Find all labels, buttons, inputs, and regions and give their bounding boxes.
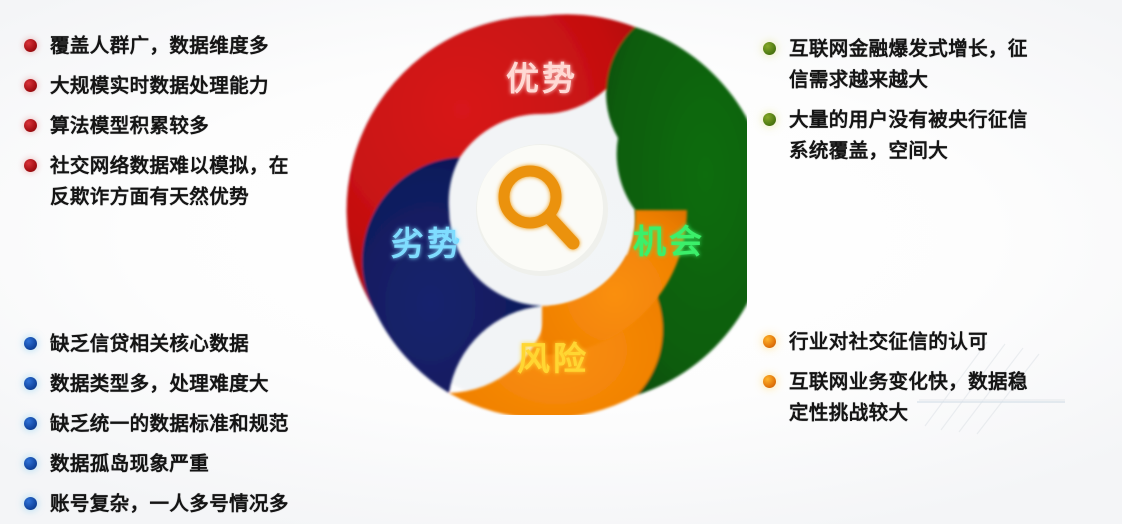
bullet-dot-icon xyxy=(24,159,37,172)
bullet-dot-icon xyxy=(763,375,776,388)
panel-opportunities: 互联网金融爆发式增长，征 信需求越来越大 大量的用户没有被央行征信 系统覆盖，空… xyxy=(763,33,1093,175)
bullet-dot-icon xyxy=(763,113,776,126)
panel-strengths: 覆盖人群广，数据维度多 大规模实时数据处理能力 算法模型积累较多 社交网络数据难… xyxy=(24,30,344,221)
wheel-label-opportunities: 机会 xyxy=(633,222,705,261)
list-item-label: 数据类型多，处理难度大 xyxy=(50,368,269,399)
swot-wheel: 优势 机会 劣势 风险 xyxy=(337,5,747,415)
list-item-label: 大量的用户没有被央行征信 系统覆盖，空间大 xyxy=(789,104,1028,166)
list-item-label: 算法模型积累较多 xyxy=(50,110,209,141)
list-item-label: 互联网金融爆发式增长，征 信需求越来越大 xyxy=(789,33,1028,95)
wheel-label-strengths: 优势 xyxy=(506,59,578,98)
wheel-label-weaknesses: 劣势 xyxy=(391,224,463,263)
bullet-dot-icon xyxy=(24,417,37,430)
bullet-dot-icon xyxy=(24,119,37,132)
list-item: 数据类型多，处理难度大 xyxy=(24,368,344,399)
bullet-dot-icon xyxy=(24,79,37,92)
bullet-dot-icon xyxy=(24,497,37,510)
panel-weaknesses: 缺乏信贷相关核心数据 数据类型多，处理难度大 缺乏统一的数据标准和规范 数据孤岛… xyxy=(24,328,344,528)
list-item-label: 缺乏统一的数据标准和规范 xyxy=(50,408,289,439)
list-item: 行业对社交征信的认可 xyxy=(763,326,1093,357)
wheel-center-disc xyxy=(477,145,603,271)
list-item: 社交网络数据难以模拟，在 反欺诈方面有天然优势 xyxy=(24,150,344,212)
list-item: 覆盖人群广，数据维度多 xyxy=(24,30,344,61)
list-item: 大量的用户没有被央行征信 系统覆盖，空间大 xyxy=(763,104,1093,166)
list-item-label: 数据孤岛现象严重 xyxy=(50,448,209,479)
list-item-label: 大规模实时数据处理能力 xyxy=(50,70,269,101)
wheel-label-threats: 风险 xyxy=(517,339,589,378)
list-item: 账号复杂，一人多号情况多 xyxy=(24,488,344,519)
list-item-label: 缺乏信贷相关核心数据 xyxy=(50,328,249,359)
list-item: 大规模实时数据处理能力 xyxy=(24,70,344,101)
bullet-dot-icon xyxy=(763,335,776,348)
bullet-dot-icon xyxy=(763,42,776,55)
bullet-dot-icon xyxy=(24,39,37,52)
bullet-dot-icon xyxy=(24,457,37,470)
list-item-label: 行业对社交征信的认可 xyxy=(789,326,988,357)
list-item: 算法模型积累较多 xyxy=(24,110,344,141)
list-item: 互联网金融爆发式增长，征 信需求越来越大 xyxy=(763,33,1093,95)
list-item-label: 账号复杂，一人多号情况多 xyxy=(50,488,289,519)
list-item: 互联网业务变化快，数据稳 定性挑战较大 xyxy=(763,366,1093,428)
panel-threats: 行业对社交征信的认可 互联网业务变化快，数据稳 定性挑战较大 xyxy=(763,326,1093,437)
list-item: 缺乏统一的数据标准和规范 xyxy=(24,408,344,439)
list-item: 数据孤岛现象严重 xyxy=(24,448,344,479)
list-item-label: 社交网络数据难以模拟，在 反欺诈方面有天然优势 xyxy=(50,150,289,212)
bullet-dot-icon xyxy=(24,337,37,350)
bullet-dot-icon xyxy=(24,377,37,390)
list-item-label: 覆盖人群广，数据维度多 xyxy=(50,30,269,61)
swot-diagram-stage: 覆盖人群广，数据维度多 大规模实时数据处理能力 算法模型积累较多 社交网络数据难… xyxy=(0,0,1122,524)
list-item-label: 互联网业务变化快，数据稳 定性挑战较大 xyxy=(789,366,1028,428)
list-item: 缺乏信贷相关核心数据 xyxy=(24,328,344,359)
